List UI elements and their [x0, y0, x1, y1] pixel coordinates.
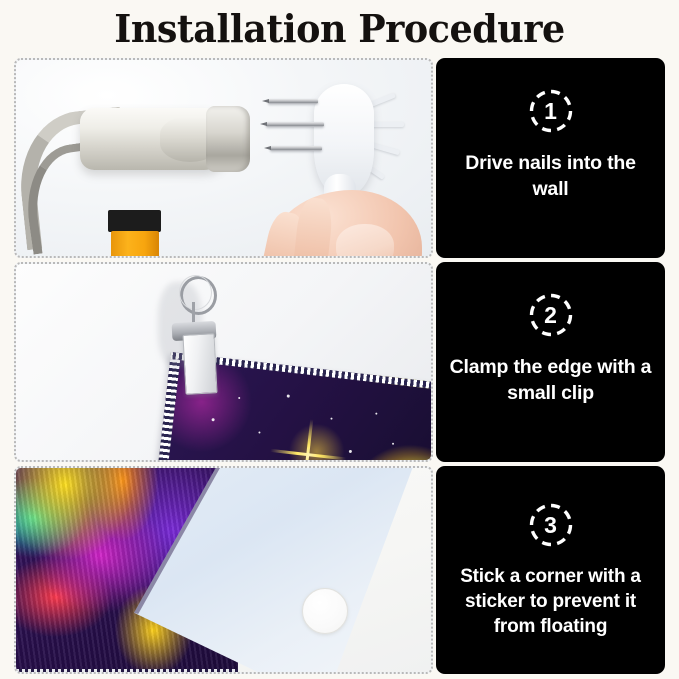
page-title: Installation Procedure: [14, 6, 666, 52]
clip-body: [182, 333, 217, 395]
step-1-photo: [14, 58, 433, 258]
star-dot: [330, 417, 332, 419]
nail: [268, 99, 318, 104]
step-3-card: 3 Stick a corner with a sticker to preve…: [436, 466, 665, 674]
step-number: 2: [544, 304, 557, 327]
step-2-photo: [14, 262, 433, 462]
star-dot: [211, 418, 214, 421]
step-3-text: Stick a corner with a sticker to prevent…: [436, 564, 665, 639]
step-2-text: Clamp the edge with a small clip: [436, 354, 665, 406]
step-badge-2: 2: [528, 292, 574, 338]
star-dot: [287, 394, 290, 397]
star-dot: [349, 450, 352, 453]
claw-hammer: [14, 82, 270, 257]
adhesive-sticker: [302, 588, 348, 634]
thumbnail: [336, 224, 394, 258]
tool-fin: [370, 122, 404, 127]
step-badge-3: 3: [528, 502, 574, 548]
clip-ring-highlight: [179, 275, 212, 310]
star-dot: [215, 461, 217, 462]
step-3-photo: [14, 466, 433, 674]
hammer-handle: [111, 231, 159, 258]
step-number: 3: [544, 514, 557, 537]
nail: [270, 146, 322, 151]
step-badge-1: 1: [528, 88, 574, 134]
star-dot: [258, 431, 260, 433]
star-dot: [238, 397, 240, 399]
nail: [266, 122, 324, 127]
hand: [260, 172, 425, 258]
hammer-striking-face: [206, 106, 250, 172]
step-row-3: 3 Stick a corner with a sticker to preve…: [14, 466, 665, 674]
star-dot: [392, 443, 394, 445]
step-2-card: 2 Clamp the edge with a small clip: [436, 262, 665, 462]
star-dot: [375, 413, 377, 415]
step-1-text: Drive nails into the wall: [436, 150, 665, 202]
installation-procedure-infographic: Installation Procedure: [0, 0, 679, 679]
step-number: 1: [544, 100, 557, 123]
tapestry-edge-trim: [16, 669, 238, 674]
step-1-card: 1 Drive nails into the wall: [436, 58, 665, 258]
step-row-2: 2 Clamp the edge with a small clip: [14, 262, 665, 462]
step-row-1: 1 Drive nails into the wall: [14, 58, 665, 258]
hammer-collar: [108, 210, 161, 232]
